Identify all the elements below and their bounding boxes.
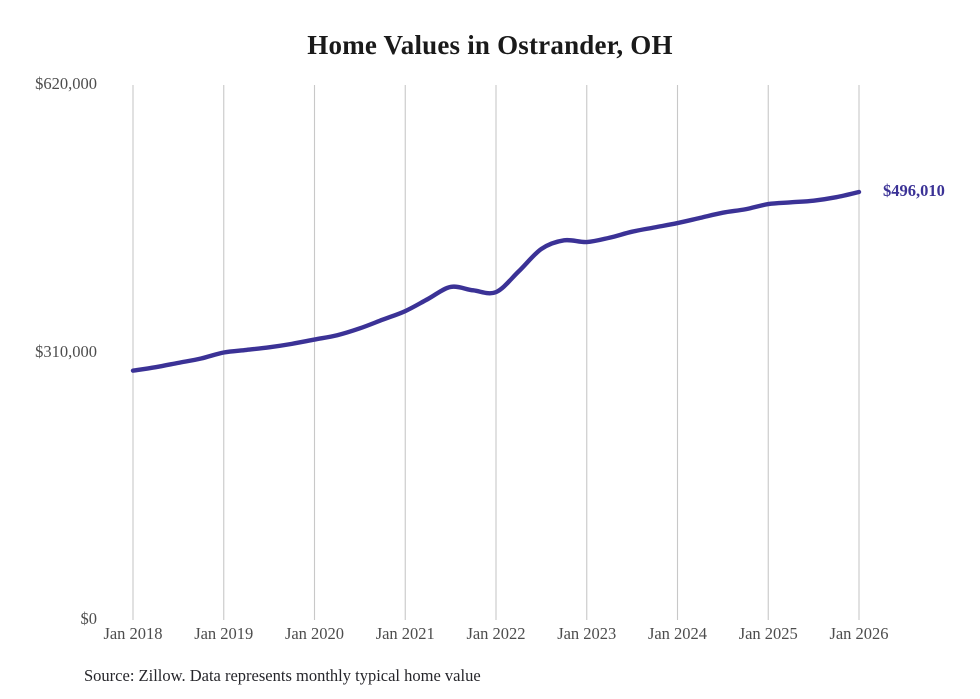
x-axis-tick-label: Jan 2025 — [739, 624, 798, 644]
y-axis-tick-label: $0 — [0, 609, 97, 629]
x-axis-tick-label: Jan 2018 — [103, 624, 162, 644]
x-axis-tick-label: Jan 2024 — [648, 624, 707, 644]
x-axis-tick-label: Jan 2023 — [557, 624, 616, 644]
x-axis-tick-label: Jan 2020 — [285, 624, 344, 644]
y-axis-tick-label: $620,000 — [0, 74, 97, 94]
source-note: Source: Zillow. Data represents monthly … — [84, 666, 481, 686]
home-values-line-chart: Home Values in Ostrander, OH $0$310,000$… — [0, 0, 980, 699]
x-axis-tick-label: Jan 2026 — [829, 624, 888, 644]
x-axis-tick-label: Jan 2022 — [466, 624, 525, 644]
x-axis-tick-label: Jan 2021 — [376, 624, 435, 644]
x-axis-tick-label: Jan 2019 — [194, 624, 253, 644]
end-value-label: $496,010 — [883, 181, 945, 201]
y-axis-tick-label: $310,000 — [0, 342, 97, 362]
plot-area — [0, 0, 980, 699]
